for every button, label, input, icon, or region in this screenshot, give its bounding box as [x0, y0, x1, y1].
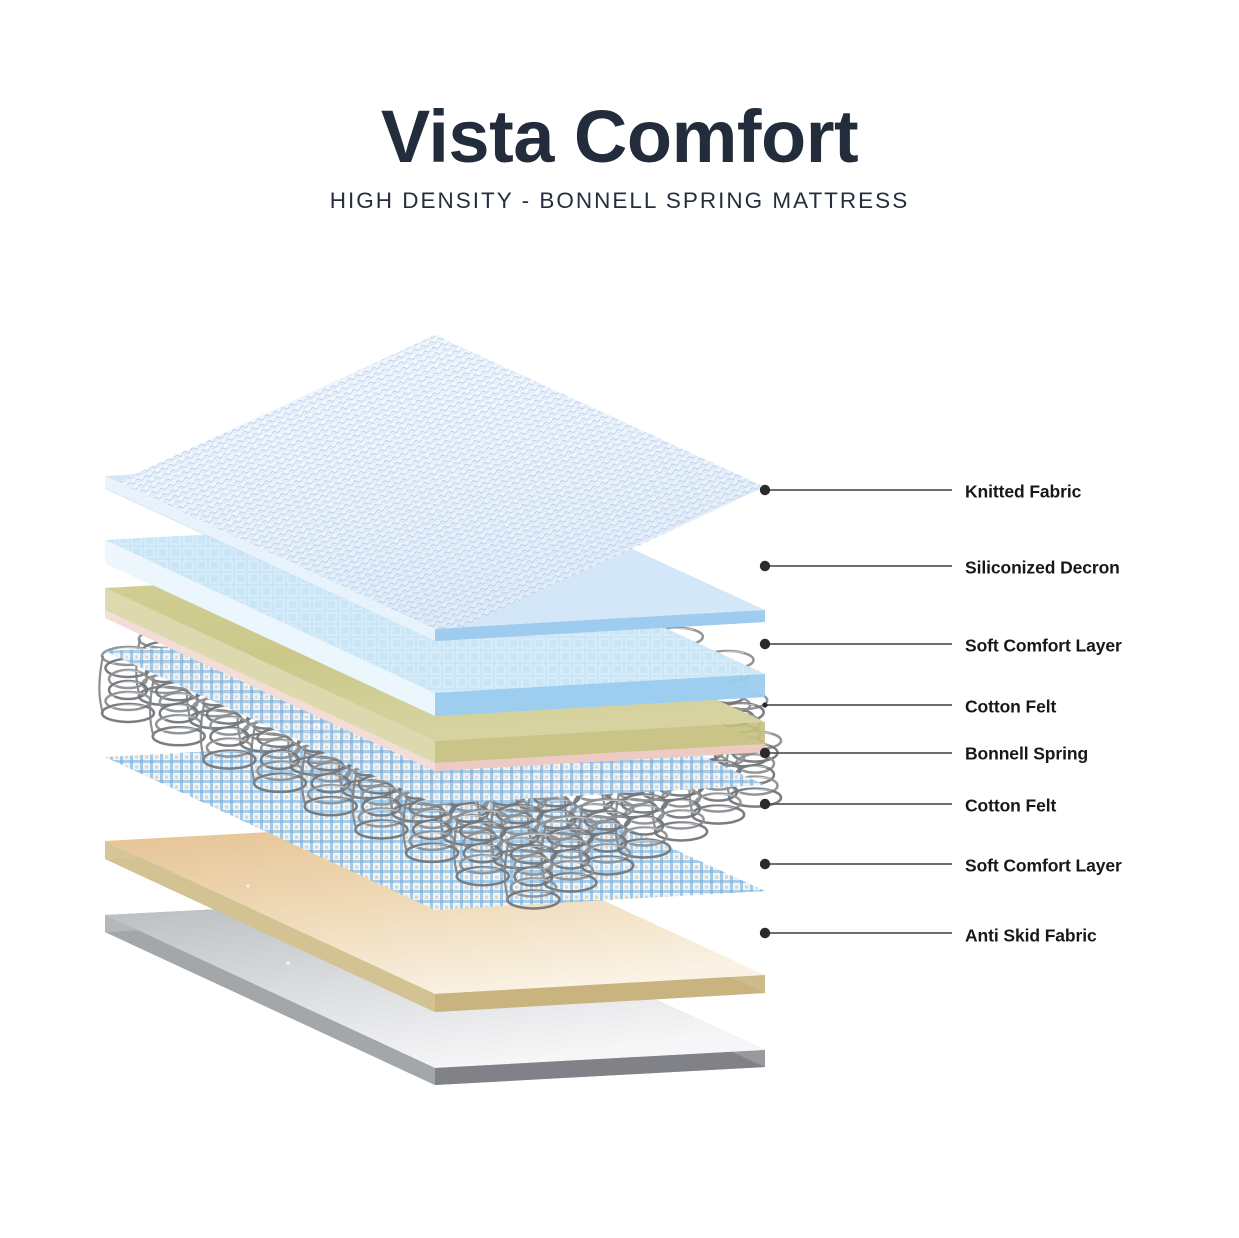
leader-dot: [760, 561, 770, 571]
leader-dot: [760, 639, 770, 649]
label-soft-comfort-top: Soft Comfort Layer: [965, 636, 1122, 657]
label-cotton-felt-top: Cotton Felt: [965, 697, 1056, 718]
leader-dot: [760, 799, 770, 809]
label-cotton-felt-bottom: Cotton Felt: [965, 796, 1056, 817]
leader-dot: [760, 485, 770, 495]
label-bonnell-spring: Bonnell Spring: [965, 744, 1088, 765]
label-knitted-fabric: Knitted Fabric: [965, 482, 1081, 503]
label-anti-skid-fabric: Anti Skid Fabric: [965, 926, 1097, 947]
leader-dot: [760, 928, 770, 938]
leader-dot: [762, 702, 767, 707]
label-soft-comfort-bottom: Soft Comfort Layer: [965, 856, 1122, 877]
label-siliconized-decron: Siliconized Decron: [965, 558, 1120, 579]
leader-lines-group: [760, 485, 952, 938]
mattress-exploded-diagram: [0, 0, 1239, 1238]
diagram-canvas: Vista Comfort HIGH DENSITY - BONNELL SPR…: [0, 0, 1239, 1238]
leader-dot: [760, 859, 770, 869]
leader-dot: [760, 748, 770, 758]
